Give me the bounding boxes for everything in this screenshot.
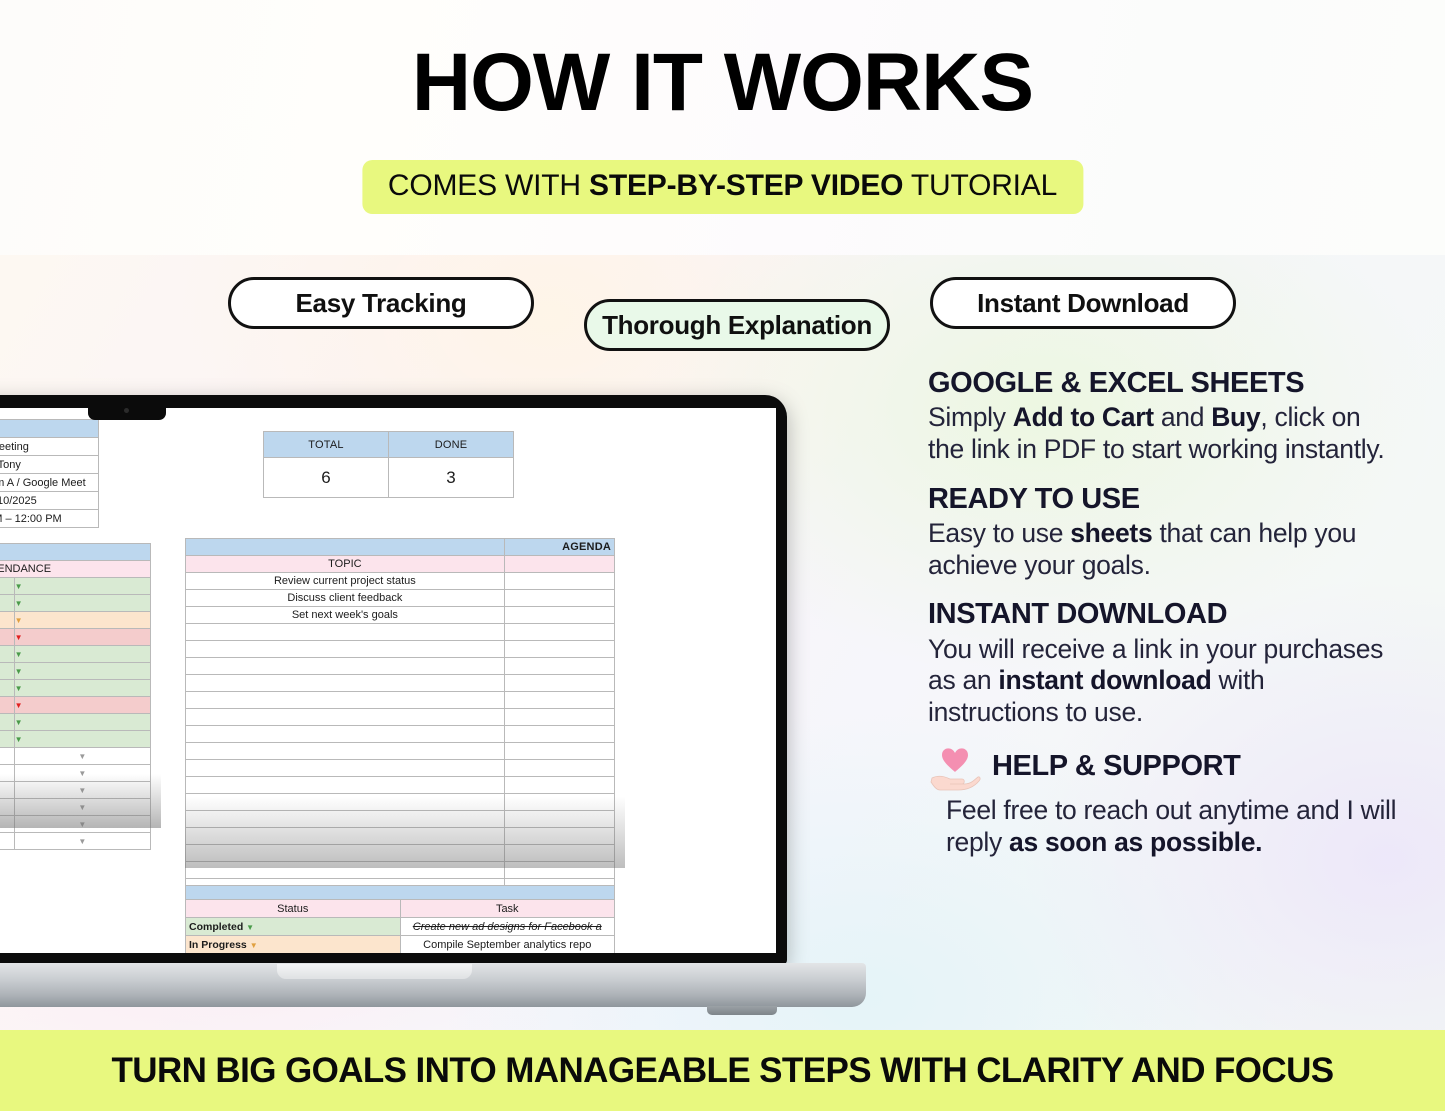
table-row: NAMEATTENDANCE xyxy=(0,561,151,578)
task-name[interactable]: Compile September analytics repo xyxy=(400,936,615,954)
table-row: TOTAL DONE xyxy=(264,432,514,458)
feature-text-column: GOOGLE & EXCEL SHEETS Simply Add to Cart… xyxy=(928,367,1398,875)
laptop-base-notch xyxy=(277,964,472,979)
pill-easy-tracking[interactable]: Easy Tracking xyxy=(228,277,534,329)
totals-table: TOTAL DONE 6 3 xyxy=(263,431,514,498)
table-row: Discuss client feedback xyxy=(186,590,615,607)
table-row xyxy=(186,709,615,726)
task-status[interactable]: Completed ▼ xyxy=(186,918,401,936)
attendance-dropdown-icon[interactable]: ▼ xyxy=(14,731,150,748)
participants-table: PARTICIPANTSNAMEATTENDANCEnsonPresent▼ow… xyxy=(0,543,151,850)
table-row: sonPresent▼ xyxy=(0,714,151,731)
attendance-value[interactable] xyxy=(0,748,14,765)
agenda-topic[interactable] xyxy=(186,709,505,726)
meeting-details-table: MEETING DETAILS TITLE Meeting ORGANIZER … xyxy=(0,419,99,528)
table-row xyxy=(186,641,615,658)
attendance-value[interactable] xyxy=(0,765,14,782)
agenda-topic[interactable] xyxy=(186,726,505,743)
meeting-details-header: MEETING DETAILS xyxy=(0,420,99,438)
table-row xyxy=(186,658,615,675)
feature-heading: INSTANT DOWNLOAD xyxy=(928,598,1398,630)
cell-value: Meeting Room A / Google Meet xyxy=(0,474,99,492)
table-row: In Progress ▼Compile September analytics… xyxy=(186,936,615,954)
task-name[interactable]: Create new ad designs for Facebook a xyxy=(400,918,615,936)
feature-body: Easy to use sheets that can help you ach… xyxy=(928,518,1398,581)
attendance-value[interactable]: Present xyxy=(0,663,14,680)
attendance-dropdown-icon[interactable]: ▼ xyxy=(14,663,150,680)
attendance-dropdown-icon[interactable]: ▼ xyxy=(14,612,150,629)
attendance-value[interactable] xyxy=(0,833,14,850)
attendance-dropdown-icon[interactable]: ▼ xyxy=(14,697,150,714)
attendance-value[interactable]: Present xyxy=(0,646,14,663)
agenda-topic: Set next week's goals xyxy=(186,607,505,624)
bottom-banner: TURN BIG GOALS INTO MANAGEABLE STEPS WIT… xyxy=(0,1030,1445,1111)
table-row: TOPIC xyxy=(186,556,615,573)
table-row xyxy=(186,760,615,777)
table-row xyxy=(186,675,615,692)
table-row: AGENDA xyxy=(186,539,615,556)
agenda-topic[interactable] xyxy=(186,658,505,675)
attendance-value[interactable]: Present xyxy=(0,731,14,748)
attendance-dropdown-icon[interactable]: ▼ xyxy=(14,782,150,799)
table-row xyxy=(186,777,615,794)
column-header-total: TOTAL xyxy=(264,432,389,458)
attendance-value[interactable]: Present xyxy=(0,578,14,595)
done-value: 3 xyxy=(389,458,514,498)
attendance-value[interactable] xyxy=(0,782,14,799)
attendance-dropdown-icon[interactable]: ▼ xyxy=(14,748,150,765)
table-row: PARTICIPANTS xyxy=(0,544,151,561)
attendance-dropdown-icon[interactable]: ▼ xyxy=(14,799,150,816)
table-row: TITLE Meeting xyxy=(0,438,99,456)
table-row: TIME 11:00 AM – 12:00 PM xyxy=(0,510,99,528)
table-row: ▼ xyxy=(0,816,151,833)
agenda-topic[interactable] xyxy=(186,794,505,811)
agenda-topic[interactable] xyxy=(186,862,505,879)
agenda-header: AGENDA xyxy=(504,539,614,556)
feature-block-instant-download: INSTANT DOWNLOAD You will receive a link… xyxy=(928,598,1398,728)
table-row xyxy=(186,726,615,743)
table-row: ownPresent▼ xyxy=(0,595,151,612)
attendance-dropdown-icon[interactable]: ▼ xyxy=(14,765,150,782)
attendance-dropdown-icon[interactable]: ▼ xyxy=(14,833,150,850)
attendance-dropdown-icon[interactable]: ▼ xyxy=(14,816,150,833)
attendance-dropdown-icon[interactable]: ▼ xyxy=(14,595,150,612)
table-row xyxy=(186,692,615,709)
table-row: MEETING DETAILS xyxy=(0,420,99,438)
feature-body: Simply Add to Cart and Buy, click on the… xyxy=(928,402,1398,465)
table-row: ▼ xyxy=(0,833,151,850)
attendance-value[interactable] xyxy=(0,816,14,833)
feature-heading: GOOGLE & EXCEL SHEETS xyxy=(928,367,1398,399)
agenda-topic[interactable] xyxy=(186,760,505,777)
attendance-value[interactable]: Present xyxy=(0,680,14,697)
feature-body: You will receive a link in your purchase… xyxy=(928,634,1398,729)
hand-holding-heart-icon xyxy=(928,745,982,791)
table-row xyxy=(186,886,615,900)
subtitle-bold: STEP-BY-STEP VIDEO xyxy=(589,169,903,202)
laptop-foot xyxy=(707,1006,777,1015)
table-row: ClarkPresent▼ xyxy=(0,731,151,748)
table-row: sonAbsent▼ xyxy=(0,629,151,646)
table-row: rtinezPresent▼ xyxy=(0,646,151,663)
table-row: StatusTask xyxy=(186,900,615,918)
table-row: DATE 10/10/2025 xyxy=(0,492,99,510)
feature-block-ready-to-use: READY TO USE Easy to use sheets that can… xyxy=(928,483,1398,582)
pill-instant-download[interactable]: Instant Download xyxy=(930,277,1236,329)
column-header-status: Status xyxy=(186,900,401,918)
bottom-banner-text: TURN BIG GOALS INTO MANAGEABLE STEPS WIT… xyxy=(111,1051,1333,1091)
column-header-task: Task xyxy=(400,900,615,918)
table-row: ▼ xyxy=(0,765,151,782)
feature-heading: READY TO USE xyxy=(928,483,1398,515)
subtitle-prefix: COMES WITH xyxy=(388,169,589,202)
table-row: ▼ xyxy=(0,782,151,799)
attendance-value[interactable]: Absent xyxy=(0,629,14,646)
feature-pill-row: Easy Tracking Thorough Explanation Insta… xyxy=(0,277,1445,333)
agenda-topic[interactable] xyxy=(186,743,505,760)
attendance-dropdown-icon[interactable]: ▼ xyxy=(14,714,150,731)
table-row xyxy=(186,811,615,828)
table-row: ▼ xyxy=(0,799,151,816)
subtitle-suffix: TUTORIAL xyxy=(903,169,1057,202)
column-header-attendance: ATTENDANCE xyxy=(0,561,151,578)
agenda-topic[interactable] xyxy=(186,675,505,692)
table-row: Completed ▼Create new ad designs for Fac… xyxy=(186,918,615,936)
help-body: Feel free to reach out anytime and I wil… xyxy=(946,795,1398,858)
agenda-topic[interactable] xyxy=(186,777,505,794)
laptop-mockup: MEETING DETAILS TITLE Meeting ORGANIZER … xyxy=(0,395,894,1030)
agenda-topic[interactable] xyxy=(186,845,505,862)
page-title: HOW IT WORKS xyxy=(0,42,1445,124)
cell-value: 11:00 AM – 12:00 PM xyxy=(0,510,99,528)
table-row: LOCATION Meeting Room A / Google Meet xyxy=(0,474,99,492)
table-row: Review current project status xyxy=(186,573,615,590)
agenda-topic: Discuss client feedback xyxy=(186,590,505,607)
main-content-panel: Easy Tracking Thorough Explanation Insta… xyxy=(0,255,1445,1030)
agenda-table: AGENDATOPICReview current project status… xyxy=(185,538,615,913)
table-row xyxy=(186,845,615,862)
table-row: isExcused▼ xyxy=(0,612,151,629)
cell-value: Tony xyxy=(0,456,99,474)
attendance-value[interactable]: Present xyxy=(0,595,14,612)
feature-block-help-support: HELP & SUPPORT Feel free to reach out an… xyxy=(928,745,1398,858)
table-row xyxy=(186,743,615,760)
table-row xyxy=(186,624,615,641)
attendance-dropdown-icon[interactable]: ▼ xyxy=(14,680,150,697)
laptop-camera-icon xyxy=(124,408,129,413)
table-row xyxy=(186,862,615,879)
table-row: dersonPresent▼ xyxy=(0,663,151,680)
column-header-topic: TOPIC xyxy=(186,556,505,573)
feature-block-google-excel-sheets: GOOGLE & EXCEL SHEETS Simply Add to Cart… xyxy=(928,367,1398,466)
laptop-screen: MEETING DETAILS TITLE Meeting ORGANIZER … xyxy=(0,408,776,953)
table-row: psonPresent▼ xyxy=(0,680,151,697)
pill-thorough-explanation[interactable]: Thorough Explanation xyxy=(584,299,890,351)
attendance-value[interactable] xyxy=(0,799,14,816)
total-value: 6 xyxy=(264,458,389,498)
table-row xyxy=(186,794,615,811)
participants-header: PARTICIPANTS xyxy=(0,544,151,561)
agenda-topic[interactable] xyxy=(186,811,505,828)
column-header-done: DONE xyxy=(389,432,514,458)
agenda-topic[interactable] xyxy=(186,641,505,658)
subtitle-highlight-pill: COMES WITH STEP-BY-STEP VIDEO TUTORIAL xyxy=(362,160,1083,214)
attendance-value[interactable]: Excused xyxy=(0,612,14,629)
agenda-topic[interactable] xyxy=(186,692,505,709)
task-status[interactable]: In Progress ▼ xyxy=(186,936,401,954)
agenda-topic[interactable] xyxy=(186,828,505,845)
help-heading: HELP & SUPPORT xyxy=(992,750,1240,782)
tasks-table: StatusTaskCompleted ▼Create new ad desig… xyxy=(185,885,615,953)
attendance-dropdown-icon[interactable]: ▼ xyxy=(14,578,150,595)
cell-value: 10/10/2025 xyxy=(0,492,99,510)
agenda-topic[interactable] xyxy=(186,624,505,641)
attendance-dropdown-icon[interactable]: ▼ xyxy=(14,646,150,663)
help-heading-row: HELP & SUPPORT xyxy=(928,745,1398,791)
attendance-value[interactable]: Present xyxy=(0,714,14,731)
table-row: 6 3 xyxy=(264,458,514,498)
table-row: ▼ xyxy=(0,748,151,765)
header-area: HOW IT WORKS COMES WITH STEP-BY-STEP VID… xyxy=(0,0,1445,255)
cell-value: Meeting xyxy=(0,438,99,456)
table-row: rrisAbsent▼ xyxy=(0,697,151,714)
table-row xyxy=(186,828,615,845)
table-row: nsonPresent▼ xyxy=(0,578,151,595)
table-row: ORGANIZER Tony xyxy=(0,456,99,474)
attendance-dropdown-icon[interactable]: ▼ xyxy=(14,629,150,646)
table-row: Set next week's goals xyxy=(186,607,615,624)
attendance-value[interactable]: Absent xyxy=(0,697,14,714)
agenda-topic: Review current project status xyxy=(186,573,505,590)
